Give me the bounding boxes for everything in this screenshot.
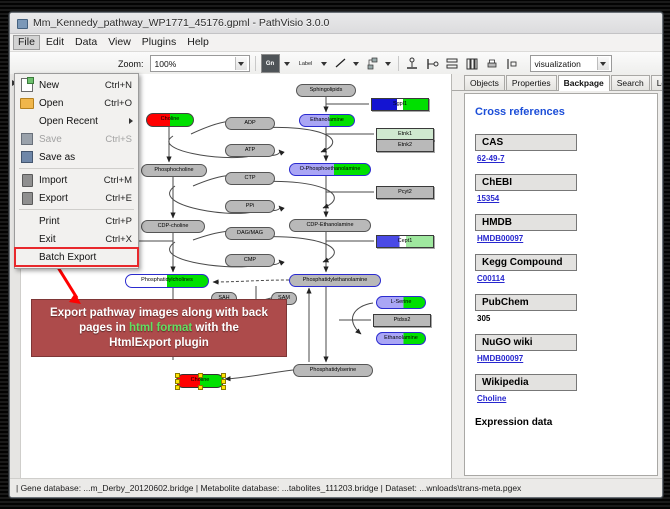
selection-handle[interactable] (221, 385, 226, 390)
align-left-icon[interactable] (424, 55, 441, 72)
tab-properties[interactable]: Properties (506, 75, 557, 90)
pathway-node-label: PPi (246, 204, 255, 210)
size-icon[interactable] (504, 55, 521, 72)
annotation-callout: Export pathway images along with back pa… (31, 299, 287, 357)
cross-reference-source: CAS (475, 134, 577, 151)
selection-handle[interactable] (175, 385, 180, 390)
pathway-node-ppi[interactable]: PPi (225, 200, 275, 213)
file-menu-item-open-recent[interactable]: Open Recent (15, 112, 138, 130)
pathway-node-cept1[interactable]: Cept1 (376, 235, 434, 248)
pathway-node-label: ADP (244, 121, 255, 127)
pathway-node-label: Cept1 (398, 239, 413, 245)
pathway-node-atp[interactable]: ATP (225, 144, 275, 157)
selection-handle[interactable] (221, 373, 226, 378)
cross-reference-source: PubChem (475, 294, 577, 311)
pathway-node-sgpl1[interactable]: Sgpl1 (371, 98, 429, 111)
file-menu-item-label: Open (39, 98, 104, 109)
pathway-node-lserine[interactable]: L-Serine (376, 296, 426, 309)
menu-help[interactable]: Help (182, 35, 214, 50)
file-menu-item-label: Batch Export (39, 252, 132, 263)
file-menu-item-shortcut: Ctrl+M (104, 175, 138, 186)
pathway-node-label: Etnk1 (398, 132, 412, 138)
side-panel-tabs: Objects Properties Backpage Search Legen… (452, 74, 662, 91)
window-title: Mm_Kennedy_pathway_WP1771_45176.gpml - P… (33, 17, 329, 29)
toolbar-separator-2 (398, 56, 399, 71)
pathway-node-cmp[interactable]: CMP (225, 254, 275, 267)
selection-handle[interactable] (198, 385, 203, 390)
distribute-vertical-icon[interactable] (444, 55, 461, 72)
file-menu-item-print[interactable]: PrintCtrl+P (15, 212, 138, 230)
visualization-combo[interactable]: visualization (530, 55, 612, 72)
pathway-node-ctp[interactable]: CTP (225, 172, 275, 185)
window-title-bar: Mm_Kennedy_pathway_WP1771_45176.gpml - P… (10, 13, 662, 34)
file-menu-item-label: Exit (39, 234, 105, 245)
status-bar: | Gene database: ...m_Derby_20120602.bri… (10, 478, 662, 497)
cross-reference-source: NuGO wiki (475, 334, 577, 351)
chevron-down-icon-2[interactable] (597, 57, 609, 70)
pathway-node-label: DAG/MAG (237, 231, 263, 237)
zoom-combo[interactable]: 100% (150, 55, 250, 72)
file-menu-item-import[interactable]: ImportCtrl+M (15, 171, 138, 189)
tab-objects[interactable]: Objects (464, 75, 505, 90)
annotation-line3: HtmlExport plugin (109, 337, 209, 349)
file-menu-item-shortcut: Ctrl+X (105, 234, 138, 245)
selection-handle[interactable] (221, 379, 226, 384)
pathvisio-window: Mm_Kennedy_pathway_WP1771_45176.gpml - P… (9, 12, 663, 498)
cross-reference-entry: WikipediaCholine (475, 372, 657, 403)
cross-reference-entry: HMDBHMDB00097 (475, 212, 657, 243)
file-menu-item-save[interactable]: SaveCtrl+S (15, 130, 138, 148)
menu-plugins[interactable]: Plugins (137, 35, 181, 50)
file-menu-item-shortcut: Ctrl+N (105, 80, 138, 91)
pathway-node-dagmag[interactable]: DAG/MAG (225, 227, 275, 240)
pathway-node-label: Choline (191, 378, 210, 384)
tab-backpage[interactable]: Backpage (558, 75, 610, 91)
cross-reference-value[interactable]: HMDB00097 (477, 354, 657, 363)
cross-reference-source: ChEBI (475, 174, 577, 191)
pathway-node-ethanolamine1[interactable]: Ethanolamine (299, 114, 355, 127)
pathway-node-label: CDP-choline (158, 224, 189, 230)
pathway-node-label: Ethanolamine (384, 336, 418, 342)
file-menu-item-label: Print (39, 216, 105, 227)
pathway-node-cdpethanolamine[interactable]: CDP-Ethanolamine (289, 219, 371, 232)
cross-reference-value[interactable]: 62-49-7 (477, 154, 657, 163)
import-icon (15, 174, 39, 187)
pathway-node-choline2[interactable]: Choline (176, 374, 224, 388)
menu-bar: File Edit Data View Plugins Help (10, 34, 662, 52)
pathway-node-label: Sphingolipids (310, 88, 343, 94)
cross-reference-list: CAS62-49-7ChEBI15354HMDBHMDB00097Kegg Co… (475, 132, 657, 403)
pathway-node-label: L-Serine (391, 300, 412, 306)
pathway-node-cdpcholine[interactable]: CDP-choline (141, 220, 205, 233)
pathway-node-label: CTP (245, 176, 256, 182)
pathway-node-label: Sgpl1 (393, 102, 407, 108)
cross-reference-value: 305 (477, 314, 657, 323)
cross-reference-entry: PubChem305 (475, 292, 657, 323)
cross-reference-entry: NuGO wikiHMDB00097 (475, 332, 657, 363)
file-menu-item-save-as[interactable]: Save as (15, 148, 138, 166)
pathway-node-ptdcholines[interactable]: Phosphatidylcholines (125, 274, 209, 288)
file-menu-item-export[interactable]: ExportCtrl+E (15, 189, 138, 207)
file-menu-item-label: Open Recent (39, 116, 132, 127)
line-tool-icon[interactable] (332, 55, 349, 72)
pathway-node-label: Phosphatidylcholines (141, 278, 193, 284)
visualization-value: visualization (535, 59, 581, 69)
annotation-line2a: pages in (79, 322, 129, 334)
annotation-text: Export pathway images along with back pa… (44, 306, 274, 351)
cross-reference-source: Kegg Compound (475, 254, 577, 271)
pathway-node-ptdserine[interactable]: Phosphatidylserine (293, 364, 373, 377)
annotation-highlight: html format (129, 322, 192, 334)
selection-handle[interactable] (198, 373, 203, 378)
backpage-content[interactable]: Cross references CAS62-49-7ChEBI15354HMD… (464, 93, 658, 476)
annotation-line1: Export pathway images along with back (50, 307, 268, 319)
pathway-node-label: Choline (161, 117, 180, 123)
menu-data[interactable]: Data (70, 35, 102, 50)
pathway-node-pbx2[interactable]: Ptdss2 (373, 314, 431, 327)
pathway-node-label: ATP (245, 148, 255, 154)
align-top-icon[interactable] (404, 55, 421, 72)
menu-edit[interactable]: Edit (41, 35, 69, 50)
side-panel: Objects Properties Backpage Search Legen… (452, 74, 662, 479)
cross-reference-source: Wikipedia (475, 374, 577, 391)
file-menu-item-label: Save as (39, 152, 132, 163)
pathway-node-label: Phosphatidylethanolamine (303, 278, 368, 284)
pathway-node-ethanolamine2[interactable]: Ethanolamine (376, 332, 426, 345)
file-menu-item-label: Export (39, 193, 105, 204)
label-dropdown-icon[interactable] (320, 56, 329, 72)
pathway-node-label: O-Phosphoethanolamine (300, 167, 361, 173)
print-icon[interactable] (484, 55, 501, 72)
file-menu-item-shortcut: Ctrl+P (105, 216, 138, 227)
save-icon (15, 133, 39, 145)
file-menu-item-label: Save (39, 134, 105, 145)
label-tool-icon[interactable]: Label (295, 55, 317, 72)
status-text: | Gene database: ...m_Derby_20120602.bri… (16, 483, 521, 493)
cross-reference-value[interactable]: C00114 (477, 274, 657, 283)
file-menu-item-shortcut: Ctrl+S (105, 134, 138, 145)
menu-file[interactable]: File (13, 35, 40, 50)
file-menu-item-label: New (39, 80, 105, 91)
pathway-node-label: Etnk2 (398, 143, 412, 149)
export-icon (15, 192, 39, 205)
line-dropdown-icon[interactable] (352, 56, 361, 72)
file-menu-item-shortcut: Ctrl+E (105, 193, 138, 204)
pathway-node-choline[interactable]: Choline (146, 113, 194, 127)
selection-handle[interactable] (175, 373, 180, 378)
cross-reference-value[interactable]: 15354 (477, 194, 657, 203)
file-menu-item-open[interactable]: OpenCtrl+O (15, 94, 138, 112)
pathway-node-label: CDP-Ethanolamine (306, 223, 353, 229)
app-icon (16, 17, 28, 29)
expression-data-heading: Expression data (475, 417, 657, 428)
tab-search[interactable]: Search (611, 75, 650, 90)
save-as-icon (15, 151, 39, 163)
datanode-tool-icon[interactable]: Gn (261, 54, 280, 73)
tab-legend[interactable]: Legend (651, 75, 663, 90)
open-folder-icon (15, 98, 39, 109)
pathway-node-label: Ethanolamine (310, 118, 344, 124)
menu-view[interactable]: View (103, 35, 136, 50)
file-menu-item-label: Import (39, 175, 104, 186)
pathway-node-label: Phosphatidylserine (310, 368, 356, 374)
submenu-arrow-icon (129, 118, 133, 124)
new-document-icon (15, 78, 39, 92)
file-menu-dropdown[interactable]: NewCtrl+NOpenCtrl+OOpen RecentSaveCtrl+S… (14, 73, 139, 269)
desktop-background: Mm_Kennedy_pathway_WP1771_45176.gpml - P… (0, 0, 670, 509)
menu-separator (19, 168, 134, 169)
backpage-heading: Cross references (475, 106, 657, 118)
datanode-dropdown-icon[interactable] (283, 56, 292, 72)
file-menu-item-batch-export[interactable]: Batch Export (15, 248, 138, 266)
annotation-line2b: with the (192, 322, 239, 334)
pathway-node-label: Pcyt2 (398, 190, 412, 196)
pathway-node-etnk2[interactable]: Etnk2 (376, 139, 434, 152)
pathway-node-ptdethanolamine[interactable]: Phosphatidylethanolamine (289, 274, 381, 287)
file-menu-item-shortcut: Ctrl+O (104, 98, 138, 109)
menu-separator (19, 209, 134, 210)
cross-reference-entry: CAS62-49-7 (475, 132, 657, 163)
toolbar-separator (255, 56, 256, 71)
cross-reference-source: HMDB (475, 214, 577, 231)
zoom-value: 100% (155, 59, 177, 69)
zoom-label: Zoom: (118, 59, 144, 69)
file-menu-item-exit[interactable]: ExitCtrl+X (15, 230, 138, 248)
pathway-node-label: Phosphocholine (154, 168, 193, 174)
pathway-node-phosphocholine[interactable]: Phosphocholine (141, 164, 207, 177)
cross-reference-value[interactable]: Choline (477, 394, 657, 403)
pathway-node-adp[interactable]: ADP (225, 117, 275, 130)
cross-reference-entry: Kegg CompoundC00114 (475, 252, 657, 283)
cross-reference-entry: ChEBI15354 (475, 172, 657, 203)
interaction-tool-icon[interactable] (364, 55, 381, 72)
distribute-horizontal-icon[interactable] (464, 55, 481, 72)
file-menu-item-new[interactable]: NewCtrl+N (15, 76, 138, 94)
chevron-down-icon[interactable] (235, 57, 247, 70)
pathway-node-label: CMP (244, 258, 256, 264)
pathway-node-sphingolipids[interactable]: Sphingolipids (296, 84, 356, 97)
interaction-dropdown-icon[interactable] (384, 56, 393, 72)
pathway-node-ophosphoetha[interactable]: O-Phosphoethanolamine (289, 163, 371, 176)
cross-reference-value[interactable]: HMDB00097 (477, 234, 657, 243)
selection-handle[interactable] (175, 379, 180, 384)
pathway-node-label: Ptdss2 (394, 318, 411, 324)
pathway-node-pcyt2[interactable]: Pcyt2 (376, 186, 434, 199)
